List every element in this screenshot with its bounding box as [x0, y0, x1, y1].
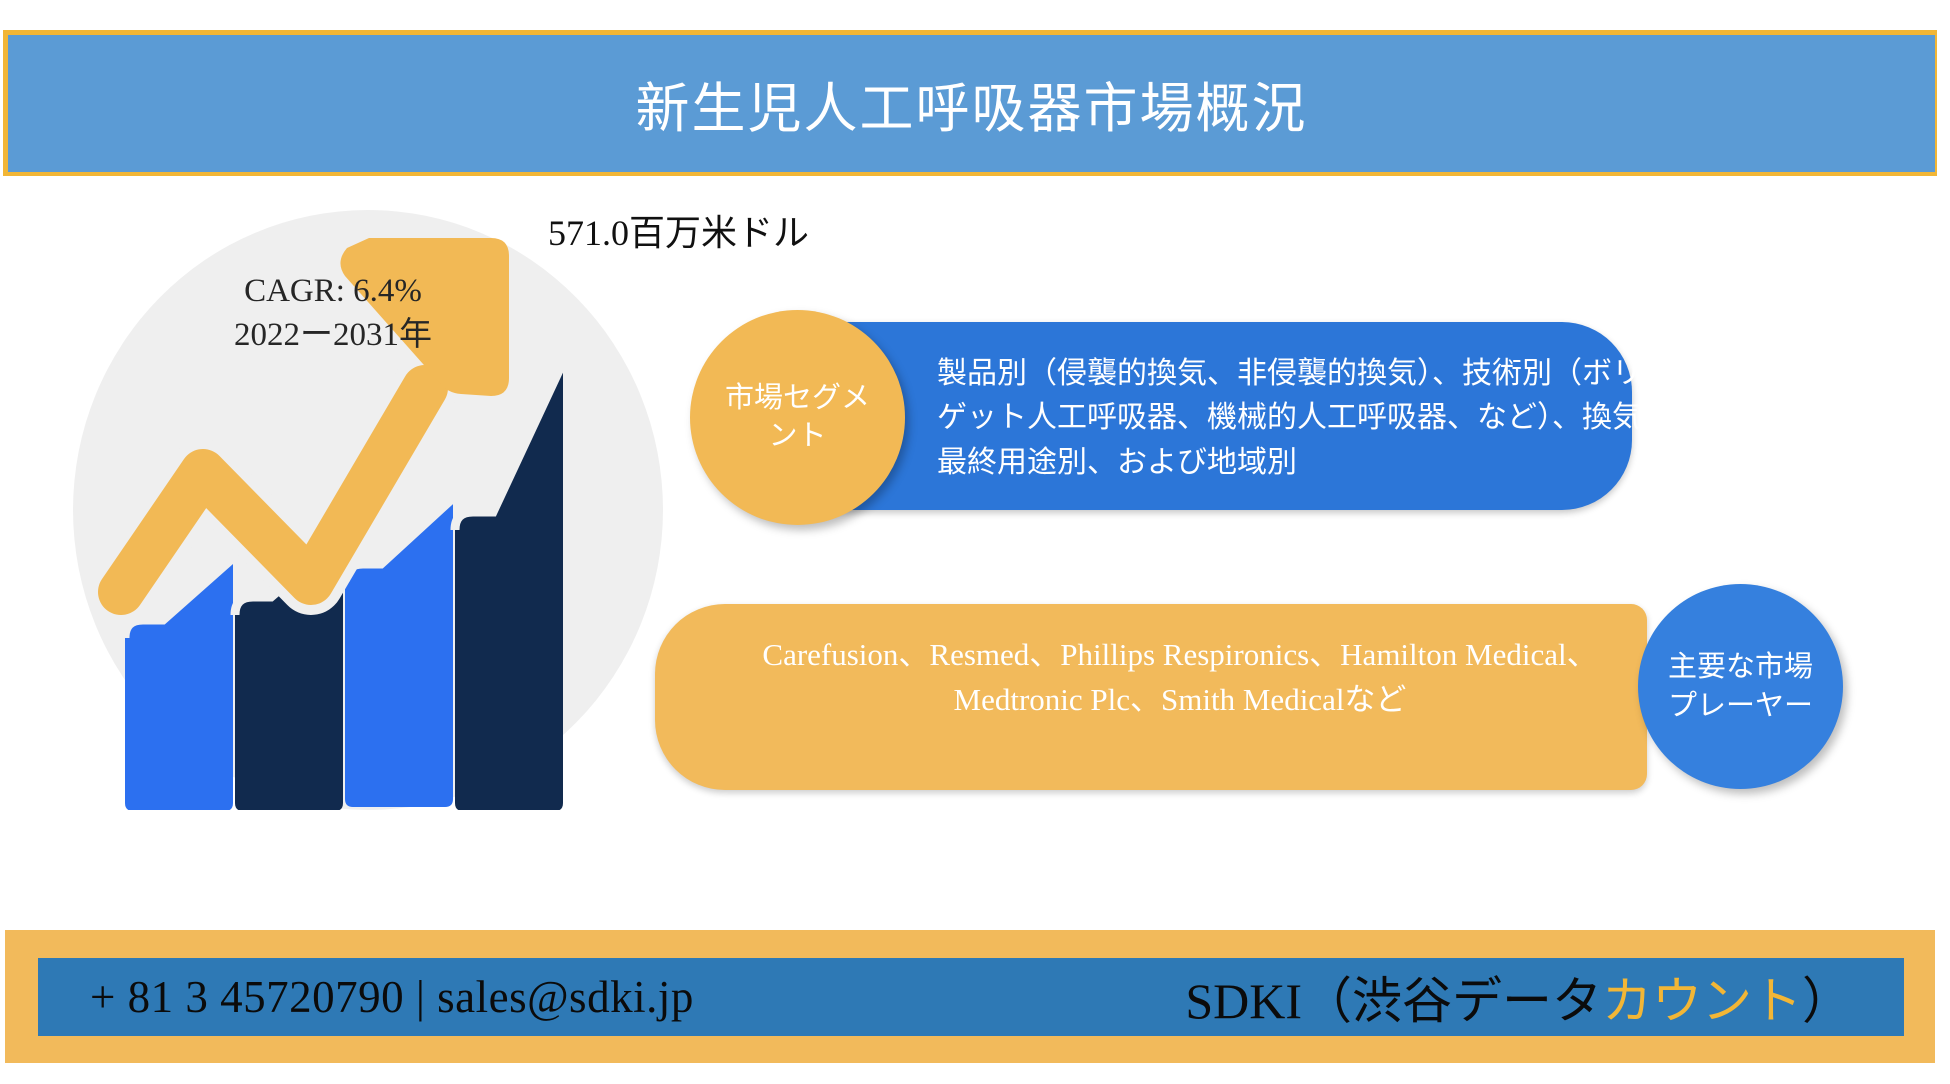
contact-info[interactable]: + 81 3 45720790 | sales@sdki.jp: [90, 971, 694, 1023]
cagr-period: 2022ー2031年: [133, 314, 533, 358]
market-segment-badge: 市場セグメント: [690, 310, 905, 525]
bar-4: [455, 362, 563, 810]
market-segment-text: 製品別（侵襲的換気、非侵襲的換気）、技術別（ボリュームターゲット人工呼吸器、機械…: [937, 352, 1797, 485]
key-players-text: Carefusion、Resmed、Phillips Respironics、H…: [760, 632, 1600, 723]
key-players-badge: 主要な市場プレーヤー: [1638, 584, 1843, 789]
header-bar: 新生児人工呼吸器市場概況: [3, 30, 1937, 176]
footer-bar: + 81 3 45720790 | sales@sdki.jp SDKI（渋谷デ…: [38, 958, 1904, 1036]
brand-name: SDKI（渋谷データカウント）: [1185, 961, 1852, 1033]
market-segment-badge-label: 市場セグメント: [715, 380, 880, 455]
cagr-annotation: CAGR: 6.4% 2022ー2031年: [133, 270, 533, 357]
brand-prefix: SDKI（渋谷データ: [1185, 973, 1602, 1029]
growth-graphic: CAGR: 6.4% 2022ー2031年: [73, 210, 673, 810]
cagr-value: CAGR: 6.4%: [133, 270, 533, 314]
brand-accent: カウント: [1602, 973, 1802, 1029]
page-title: 新生児人工呼吸器市場概況: [636, 64, 1308, 143]
brand-suffix: ）: [1802, 973, 1852, 1029]
key-players-badge-label: 主要な市場プレーヤー: [1656, 648, 1826, 725]
